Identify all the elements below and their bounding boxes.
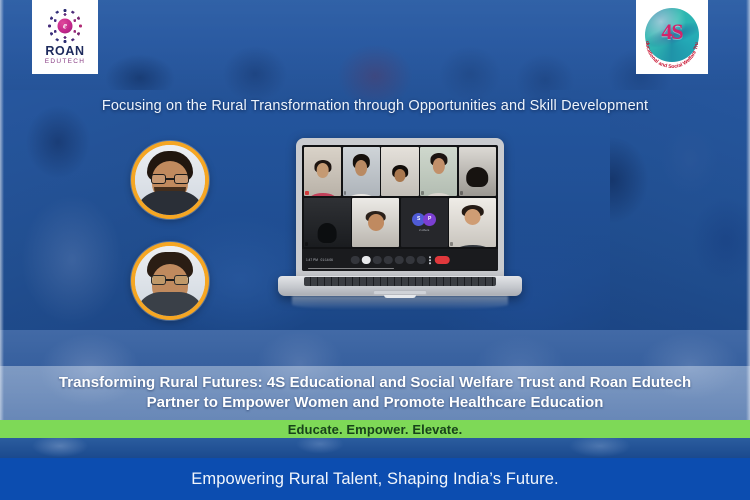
trackpad: [373, 290, 427, 295]
roan-dotted-circle-icon: e: [48, 9, 82, 43]
portrait-illustration: [135, 246, 205, 316]
header-tagline: Focusing on the Rural Transformation thr…: [0, 98, 750, 114]
roan-edutech-logo: e ROAN EDUTECH: [32, 0, 98, 74]
participant-tile-3[interactable]: [381, 147, 418, 196]
participant-tile-4[interactable]: [420, 147, 457, 196]
call-controls: [351, 256, 450, 265]
laptop-reflection: [292, 296, 508, 310]
poster-canvas: e ROAN EDUTECH 4S Educational and Social…: [0, 0, 750, 500]
laptop-lid: S P 2 others: [296, 138, 504, 280]
participant-tile-2[interactable]: [343, 147, 380, 196]
curved-trust-text: Educational and Social Welfare Trust: [641, 6, 703, 68]
participant-tile-1[interactable]: [304, 147, 341, 196]
roan-monogram: e: [58, 18, 73, 33]
call-clock: 1:47 PM 01:14:06: [306, 258, 333, 262]
footer-tagline-text: Empowering Rural Talent, Shaping India’s…: [191, 470, 558, 489]
participants-button[interactable]: [406, 256, 415, 265]
more-options-button[interactable]: [428, 256, 432, 265]
video-grid-row-1: [304, 147, 496, 196]
participant-tile-9[interactable]: [449, 198, 496, 247]
laptop-mockup: S P 2 others: [278, 138, 522, 310]
laptop-screen: S P 2 others: [302, 145, 498, 271]
portrait-illustration: [135, 145, 205, 215]
participant-tile-avatars[interactable]: S P 2 others: [401, 198, 448, 247]
participant-name-label: [450, 242, 453, 246]
photo-strip-divider: [0, 438, 750, 458]
mute-microphone-button[interactable]: [351, 256, 360, 265]
eyeglasses-icon: [151, 275, 189, 285]
fours-trust-logo: 4S Educational and Social Welfare Trust: [636, 0, 708, 74]
camera-toggle-button[interactable]: [362, 256, 371, 265]
participant-name-label: [421, 191, 424, 195]
globe-icon: 4S Educational and Social Welfare Trust: [641, 6, 703, 68]
green-tagline-text: Educate. Empower. Elevate.: [288, 422, 463, 437]
avatar-initial-2: P: [423, 213, 436, 226]
muted-mic-indicator: [305, 191, 309, 195]
video-grid-row-2: S P 2 others: [304, 198, 496, 247]
laptop-base: [278, 276, 522, 296]
roan-logo-name: ROAN: [45, 45, 84, 58]
footer-bar: Empowering Rural Talent, Shaping India’s…: [0, 458, 750, 500]
end-call-button[interactable]: [434, 256, 449, 265]
headline-banner: Transforming Rural Futures: 4S Education…: [0, 366, 750, 420]
keyboard: [304, 277, 496, 286]
roan-logo-subtitle: EDUTECH: [45, 59, 86, 66]
avatar-pair: S P: [412, 213, 436, 226]
call-control-bar: 1:47 PM 01:14:06: [302, 249, 498, 271]
avatar-tile-caption: 2 others: [419, 228, 429, 232]
headline-line-1: Transforming Rural Futures: 4S Education…: [59, 374, 691, 393]
video-call-grid: S P 2 others: [302, 145, 498, 249]
chat-button[interactable]: [417, 256, 426, 265]
participant-name-label: [460, 191, 463, 195]
grid-layout-button[interactable]: [384, 256, 393, 265]
speaker-portrait-1: [131, 141, 209, 219]
headline-line-2: Partner to Empower Women and Promote Hea…: [147, 394, 604, 413]
participant-tile-5[interactable]: [459, 147, 496, 196]
participant-name-label: [305, 242, 308, 246]
svg-text:Educational and Social Welfare: Educational and Social Welfare Trust: [641, 6, 700, 68]
raise-hand-button[interactable]: [373, 256, 382, 265]
participant-tile-6[interactable]: [304, 198, 351, 247]
participant-tile-7[interactable]: [352, 198, 399, 247]
eyeglasses-icon: [151, 174, 189, 184]
share-screen-button[interactable]: [395, 256, 404, 265]
home-indicator: [308, 268, 394, 270]
green-tagline-bar: Educate. Empower. Elevate.: [0, 420, 750, 438]
speaker-portrait-2: [131, 242, 209, 320]
